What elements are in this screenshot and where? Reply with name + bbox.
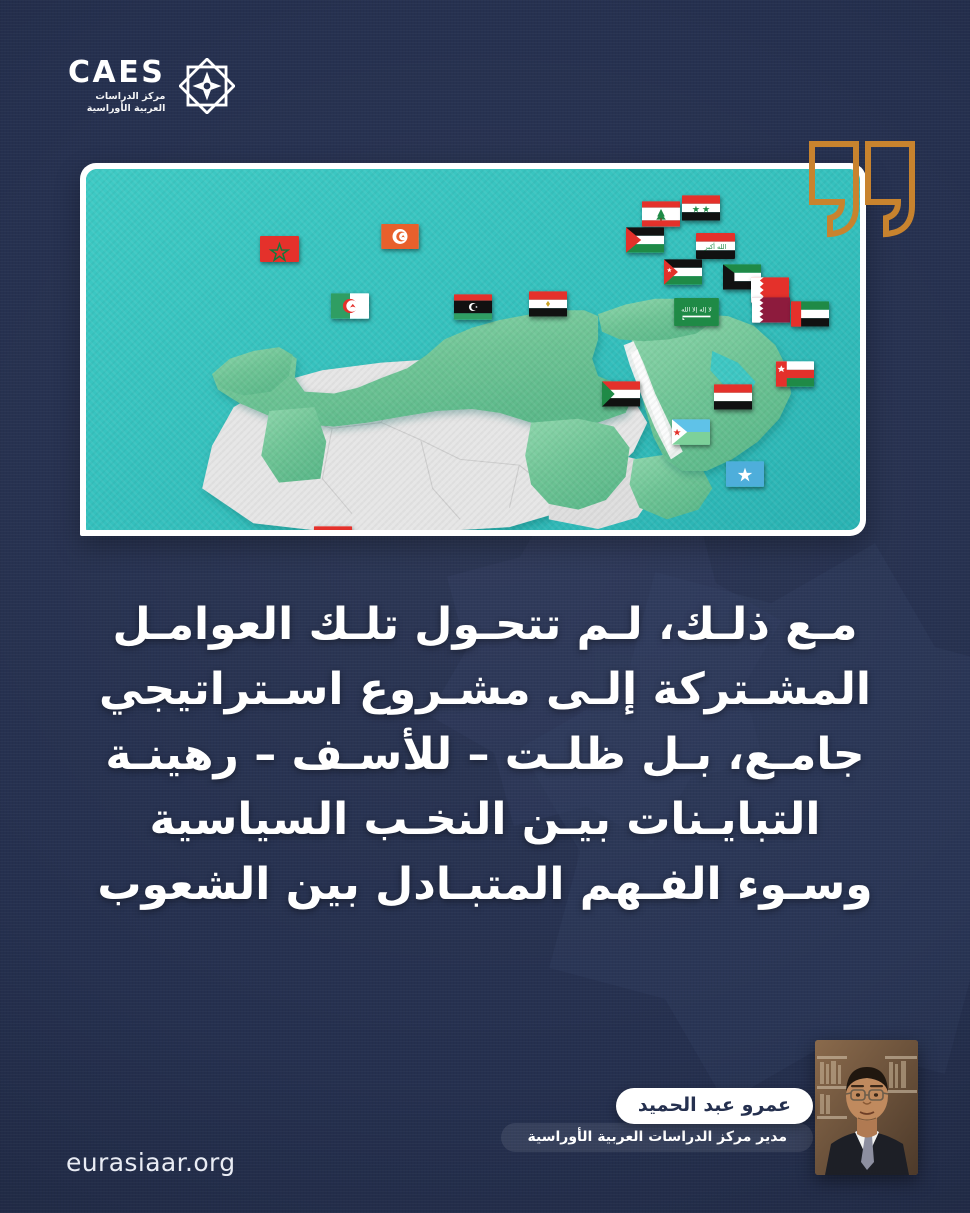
flag-mauritania-icon [314,526,352,530]
flag-somalia-icon [726,461,764,487]
brand-arabic-line-1: مركز الدراسات [87,91,166,103]
double-quotation-mark-icon [802,136,922,241]
author-portrait [815,1040,918,1175]
flag-tunisia-icon [381,224,419,249]
website-url[interactable]: eurasiaar.org [66,1148,236,1177]
headline-line-2: المشـتركة إلـى مشـروع اسـتراتيجي [60,657,910,722]
headline-line-4: التبايـنات بيـن النخـب السياسية [60,787,910,852]
flag-oman-icon [776,361,814,387]
flag-jordan-icon [664,259,702,285]
svg-text:الله أكبر: الله أكبر [704,242,727,251]
flag-algeria-icon [331,293,369,319]
map-image: الله أكبر لا إله إلا الله [86,169,860,530]
author-name-badge: عمرو عبد الحميد [616,1088,813,1124]
flag-sudan-icon [602,381,640,407]
flag-lebanon-icon [642,201,680,227]
flag-yemen-icon [714,384,752,410]
eight-point-star-icon [179,58,235,114]
brand-arabic-line-2: العربية الأوراسية [87,103,166,115]
flag-egypt-icon [529,291,567,317]
flag-uae-icon [791,301,829,327]
flag-libya-icon [454,294,492,320]
brand-logo-text: CAES مركز الدراسات العربية الأوراسية [68,58,165,115]
author-role-badge: مدير مركز الدراسات العربية الأوراسية [501,1123,813,1152]
quote-poster: CAES مركز الدراسات العربية الأوراسية [0,0,970,1213]
headline-line-5: وسـوء الفـهم المتبـادل بين الشعوب [60,852,910,917]
flag-qatar-icon [752,297,790,323]
headline-line-1: مـع ذلـك، لـم تتحـول تلـك العوامـل [60,592,910,657]
flag-morocco-icon [260,236,299,262]
brand-logo[interactable]: CAES مركز الدراسات العربية الأوراسية [68,58,235,115]
brand-name: CAES [68,58,165,88]
map-image-card: الله أكبر لا إله إلا الله [80,163,866,536]
author-portrait-image [815,1040,918,1175]
flag-palestine-icon [626,227,664,253]
flag-syria-icon [682,195,720,221]
headline-line-3: جامـع، بـل ظلـت – للأسـف – رهينـة [60,722,910,787]
quote-headline: مـع ذلـك، لـم تتحـول تلـك العوامـل المشـ… [60,592,910,918]
flag-djibouti-icon [672,419,710,445]
flag-iraq-icon: الله أكبر [696,233,735,259]
flag-saudi-arabia-icon: لا إله إلا الله [674,298,719,326]
brand-name-arabic: مركز الدراسات العربية الأوراسية [87,91,166,115]
svg-text:لا إله إلا الله: لا إله إلا الله [681,306,711,313]
